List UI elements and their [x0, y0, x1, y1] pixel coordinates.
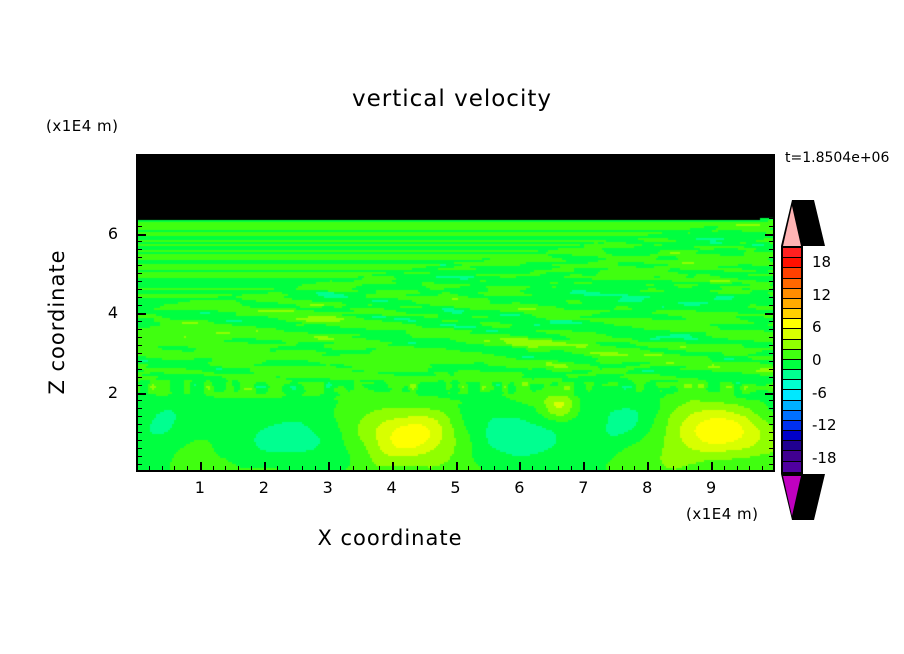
tick-mark: [622, 154, 623, 160]
tick-mark: [769, 321, 775, 322]
tick-mark: [765, 234, 775, 236]
colorbar-band: [783, 299, 801, 309]
tick-mark: [366, 466, 367, 472]
colorbar-tick-label: -18: [812, 449, 837, 467]
tick-mark: [769, 353, 775, 354]
tick-mark: [769, 377, 775, 378]
tick-mark: [187, 154, 188, 160]
tick-mark: [673, 466, 674, 472]
tick-mark: [769, 241, 775, 242]
tick-mark: [136, 424, 142, 425]
x-tick-label: 3: [313, 478, 343, 497]
tick-mark: [711, 462, 713, 472]
velocity-field-canvas: [138, 156, 773, 470]
tick-mark: [769, 281, 775, 282]
tick-mark: [136, 210, 142, 211]
tick-mark: [430, 466, 431, 472]
tick-mark: [136, 305, 142, 306]
tick-mark: [660, 466, 661, 472]
colorbar-band: [783, 370, 801, 380]
y-tick-label: 4: [96, 303, 118, 322]
x-axis-unit: (x1E4 m): [686, 505, 759, 523]
tick-mark: [136, 186, 142, 187]
tick-mark: [136, 361, 142, 362]
tick-mark: [136, 408, 142, 409]
tick-mark: [149, 466, 150, 472]
tick-mark: [769, 178, 775, 179]
y-tick-label: 6: [96, 224, 118, 243]
tick-mark: [340, 466, 341, 472]
tick-mark: [711, 154, 713, 164]
tick-mark: [769, 289, 775, 290]
tick-mark: [213, 466, 214, 472]
tick-mark: [724, 154, 725, 160]
tick-mark: [769, 345, 775, 346]
tick-mark: [136, 456, 142, 457]
page-title: vertical velocity: [0, 86, 904, 112]
tick-mark: [596, 466, 597, 472]
tick-mark: [519, 154, 521, 164]
tick-mark: [769, 440, 775, 441]
colorbar-tick-label: 18: [812, 253, 831, 271]
tick-mark: [136, 448, 142, 449]
tick-mark: [545, 466, 546, 472]
tick-mark: [225, 154, 226, 160]
tick-mark: [136, 178, 142, 179]
tick-mark: [769, 456, 775, 457]
tick-mark: [769, 170, 775, 171]
tick-mark: [571, 154, 572, 160]
tick-mark: [225, 466, 226, 472]
tick-mark: [200, 462, 202, 472]
tick-mark: [468, 154, 469, 160]
colorbar-band: [783, 279, 801, 289]
colorbar-band: [783, 431, 801, 441]
tick-mark: [136, 249, 142, 250]
colorbar-band: [783, 390, 801, 400]
tick-mark: [213, 154, 214, 160]
tick-mark: [769, 369, 775, 370]
tick-mark: [174, 466, 175, 472]
tick-mark: [749, 466, 750, 472]
tick-mark: [379, 154, 380, 160]
tick-mark: [238, 154, 239, 160]
colorbar[interactable]: [781, 246, 803, 474]
contour-plot[interactable]: [136, 154, 775, 472]
tick-mark: [162, 154, 163, 160]
tick-mark: [769, 464, 775, 465]
tick-mark: [136, 353, 142, 354]
tick-mark: [136, 257, 142, 258]
tick-mark: [392, 154, 394, 164]
colorbar-tick-label: 6: [812, 318, 822, 336]
x-tick-label: 8: [632, 478, 662, 497]
tick-mark: [162, 466, 163, 472]
colorbar-band: [783, 340, 801, 350]
tick-mark: [558, 466, 559, 472]
tick-mark: [289, 466, 290, 472]
x-axis-title: X coordinate: [0, 526, 780, 550]
x-tick-label: 2: [249, 478, 279, 497]
tick-mark: [149, 154, 150, 160]
tick-mark: [136, 329, 142, 330]
tick-mark: [571, 466, 572, 472]
tick-mark: [769, 265, 775, 266]
tick-mark: [647, 154, 649, 164]
tick-mark: [737, 466, 738, 472]
colorbar-band: [783, 380, 801, 390]
tick-mark: [660, 154, 661, 160]
tick-mark: [404, 466, 405, 472]
colorbar-band: [783, 411, 801, 421]
tick-mark: [769, 210, 775, 211]
tick-mark: [737, 154, 738, 160]
colorbar-band: [783, 309, 801, 319]
tick-mark: [769, 186, 775, 187]
tick-mark: [609, 154, 610, 160]
tick-mark: [634, 154, 635, 160]
tick-mark: [494, 154, 495, 160]
tick-mark: [302, 466, 303, 472]
x-tick-label: 7: [568, 478, 598, 497]
tick-mark: [698, 154, 699, 160]
tick-mark: [769, 202, 775, 203]
colorbar-band: [783, 401, 801, 411]
y-tick-label: 2: [96, 383, 118, 402]
tick-mark: [769, 297, 775, 298]
colorbar-over-cap: [781, 200, 825, 246]
colorbar-band: [783, 441, 801, 451]
colorbar-band: [783, 350, 801, 360]
colorbar-band: [783, 360, 801, 370]
tick-mark: [507, 466, 508, 472]
tick-mark: [456, 462, 458, 472]
tick-mark: [443, 154, 444, 160]
tick-mark: [136, 273, 142, 274]
tick-mark: [277, 154, 278, 160]
tick-mark: [174, 154, 175, 160]
tick-mark: [545, 154, 546, 160]
tick-mark: [769, 424, 775, 425]
tick-mark: [136, 377, 142, 378]
tick-mark: [769, 408, 775, 409]
tick-mark: [315, 466, 316, 472]
x-tick-label: 6: [504, 478, 534, 497]
colorbar-band: [783, 451, 801, 461]
tick-mark: [136, 337, 142, 338]
tick-mark: [769, 448, 775, 449]
tick-mark: [340, 154, 341, 160]
tick-mark: [353, 154, 354, 160]
tick-mark: [136, 440, 142, 441]
x-tick-label: 1: [185, 478, 215, 497]
time-annotation: t=1.8504e+06: [785, 150, 889, 166]
tick-mark: [251, 154, 252, 160]
tick-mark: [769, 337, 775, 338]
tick-mark: [289, 154, 290, 160]
tick-mark: [622, 466, 623, 472]
tick-mark: [769, 218, 775, 219]
colorbar-band: [783, 319, 801, 329]
tick-mark: [769, 257, 775, 258]
tick-mark: [443, 466, 444, 472]
tick-mark: [136, 321, 142, 322]
tick-mark: [532, 154, 533, 160]
tick-mark: [532, 466, 533, 472]
tick-mark: [136, 416, 142, 417]
tick-mark: [481, 154, 482, 160]
tick-mark: [583, 462, 585, 472]
tick-mark: [264, 462, 266, 472]
tick-mark: [769, 385, 775, 386]
tick-mark: [136, 234, 146, 236]
tick-mark: [769, 432, 775, 433]
y-axis-title: Z coordinate: [45, 222, 69, 422]
tick-mark: [765, 313, 775, 315]
colorbar-band: [783, 329, 801, 339]
tick-mark: [366, 154, 367, 160]
tick-mark: [136, 289, 142, 290]
tick-mark: [136, 297, 142, 298]
tick-mark: [698, 466, 699, 472]
colorbar-band: [783, 289, 801, 299]
tick-mark: [765, 393, 775, 395]
tick-mark: [417, 154, 418, 160]
tick-mark: [609, 466, 610, 472]
tick-mark: [136, 385, 142, 386]
tick-mark: [769, 273, 775, 274]
tick-mark: [315, 154, 316, 160]
tick-mark: [583, 154, 585, 164]
tick-mark: [769, 249, 775, 250]
colorbar-tick-label: -6: [812, 384, 827, 402]
tick-mark: [494, 466, 495, 472]
x-tick-label: 4: [377, 478, 407, 497]
tick-mark: [136, 194, 142, 195]
tick-mark: [468, 466, 469, 472]
x-tick-label: 5: [441, 478, 471, 497]
tick-mark: [558, 154, 559, 160]
tick-mark: [417, 466, 418, 472]
tick-mark: [136, 162, 142, 163]
tick-mark: [507, 154, 508, 160]
tick-mark: [430, 154, 431, 160]
tick-mark: [647, 462, 649, 472]
tick-mark: [686, 154, 687, 160]
tick-mark: [762, 466, 763, 472]
tick-mark: [686, 466, 687, 472]
colorbar-band: [783, 248, 801, 258]
tick-mark: [136, 265, 142, 266]
tick-mark: [302, 154, 303, 160]
tick-mark: [769, 329, 775, 330]
tick-mark: [328, 462, 330, 472]
tick-mark: [481, 466, 482, 472]
colorbar-band: [783, 421, 801, 431]
tick-mark: [769, 416, 775, 417]
tick-mark: [749, 154, 750, 160]
tick-mark: [136, 170, 142, 171]
tick-mark: [596, 154, 597, 160]
tick-mark: [136, 432, 142, 433]
tick-mark: [200, 154, 202, 164]
y-axis-unit: (x1E4 m): [46, 117, 119, 135]
tick-mark: [136, 393, 146, 395]
tick-mark: [769, 194, 775, 195]
tick-mark: [264, 154, 266, 164]
colorbar-band: [783, 268, 801, 278]
tick-mark: [673, 154, 674, 160]
x-tick-label: 9: [696, 478, 726, 497]
tick-mark: [379, 466, 380, 472]
tick-mark: [328, 154, 330, 164]
tick-mark: [519, 462, 521, 472]
colorbar-band: [783, 462, 801, 472]
tick-mark: [769, 226, 775, 227]
colorbar-tick-label: 12: [812, 286, 831, 304]
tick-mark: [136, 281, 142, 282]
tick-mark: [136, 400, 142, 401]
tick-mark: [769, 162, 775, 163]
tick-mark: [456, 154, 458, 164]
colorbar-band: [783, 258, 801, 268]
tick-mark: [769, 361, 775, 362]
tick-mark: [251, 466, 252, 472]
tick-mark: [353, 466, 354, 472]
tick-mark: [136, 369, 142, 370]
tick-mark: [277, 466, 278, 472]
tick-mark: [769, 305, 775, 306]
tick-mark: [136, 241, 142, 242]
tick-mark: [634, 466, 635, 472]
tick-mark: [136, 313, 146, 315]
tick-mark: [136, 202, 142, 203]
tick-mark: [187, 466, 188, 472]
tick-mark: [769, 400, 775, 401]
colorbar-tick-label: 0: [812, 351, 822, 369]
tick-mark: [238, 466, 239, 472]
colorbar-tick-label: -12: [812, 416, 837, 434]
tick-mark: [136, 345, 142, 346]
tick-mark: [136, 218, 142, 219]
tick-mark: [762, 154, 763, 160]
tick-mark: [136, 226, 142, 227]
tick-mark: [136, 464, 142, 465]
tick-mark: [724, 466, 725, 472]
tick-mark: [404, 154, 405, 160]
tick-mark: [392, 462, 394, 472]
colorbar-under-cap: [781, 474, 825, 520]
